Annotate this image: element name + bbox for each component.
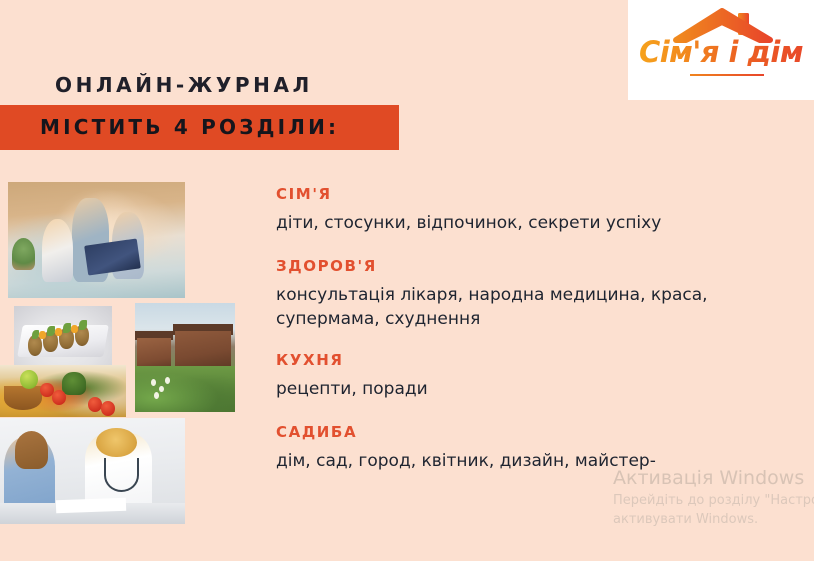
tomato-shape [88,397,102,412]
section-heading-kitchen: КУХНЯ [276,351,806,369]
section-health: ЗДОРОВ'Я консультація лікаря, народна ме… [276,257,806,331]
section-body-health: консультація лікаря, народна медицина, к… [276,283,746,331]
garnish-shape [71,325,78,333]
sections-list: СІМ'Я діти, стосунки, відпочинок, секрет… [276,185,806,473]
section-heading-health: ЗДОРОВ'Я [276,257,806,275]
watermark-line-1: Перейдіть до розділу "Настро [613,493,814,510]
stethoscope-shape [104,458,139,492]
vegetables-fruits-photo [0,365,126,417]
boy-shape [42,219,74,282]
doctor-hair-shape [96,428,137,458]
title-banner-text: МІСТИТЬ 4 РОЗДІЛИ: [40,115,339,139]
logo-text: Сім'я і дім [628,38,814,67]
section-body-family: діти, стосунки, відпочинок, секрети успі… [276,211,746,235]
family-reading-photo [8,182,185,298]
logo-container: Сім'я і дім [628,0,814,100]
section-kitchen: КУХНЯ рецепти, поради [276,351,806,401]
section-body-kitchen: рецепти, поради [276,377,746,401]
section-heading-family: СІМ'Я [276,185,806,203]
plant-shape [12,238,35,270]
flower-shape [165,377,170,384]
doctor-consultation-photo [0,418,185,524]
broccoli-shape [62,372,86,395]
food-appetizers-photo [14,306,112,368]
left-house-shape [137,338,171,369]
flower-shape [154,392,159,399]
logo-inner: Сім'я і дім [628,0,814,100]
bowl-shape [4,386,42,410]
logo-underline [690,74,764,76]
paper-shape [55,497,126,512]
section-garden: САДИБА дім, сад, город, квітник, дизайн,… [276,423,806,473]
apple-shape [20,370,38,389]
section-body-garden: дім, сад, город, квітник, дизайн, майсте… [276,449,746,473]
flower-shape [151,379,156,386]
tomato-shape [101,401,115,416]
windows-activation-watermark: Активація Windows Перейдіть до розділу "… [613,468,814,529]
main-house-shape [175,331,231,368]
herb-shape [63,323,71,333]
title-banner: МІСТИТЬ 4 РОЗДІЛИ: [0,105,399,150]
section-family: СІМ'Я діти, стосунки, відпочинок, секрет… [276,185,806,235]
garnish-shape [39,331,46,339]
house-garden-photo [135,303,235,412]
page-title-online-magazine: ОНЛАЙН-ЖУРНАЛ [55,73,313,97]
watermark-line-2: активувати Windows. [613,512,814,529]
section-heading-garden: САДИБА [276,423,806,441]
garnish-shape [55,328,62,336]
patient-hair-shape [15,431,48,469]
slide-canvas: Сім'я і дім ОНЛАЙН-ЖУРНАЛ МІСТИТЬ 4 РОЗД… [0,0,814,561]
herb-shape [79,320,87,330]
garden-grass-shape [135,366,235,412]
tomato-shape [52,390,66,405]
